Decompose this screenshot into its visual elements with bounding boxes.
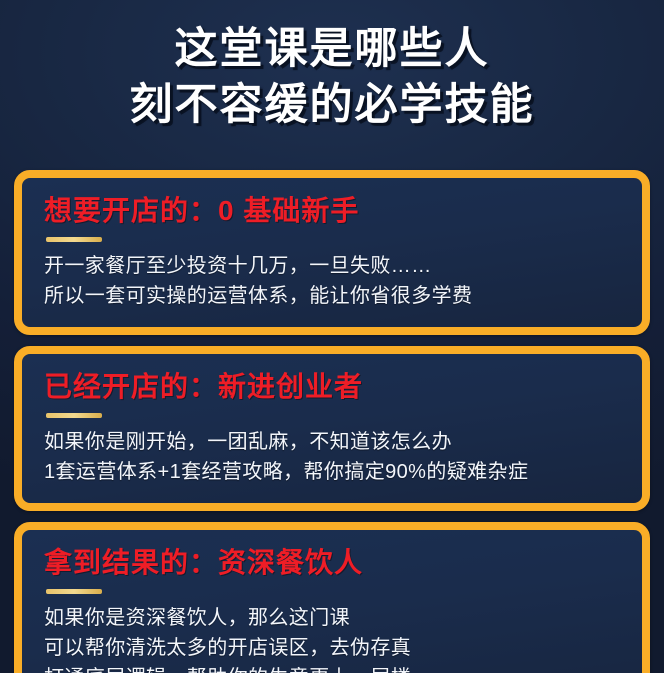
card-heading: 拿到结果的：资深餐饮人 — [44, 544, 620, 582]
card-body-line: 开一家餐厅至少投资十几万，一旦失败…… — [44, 251, 620, 281]
audience-card-veteran: 拿到结果的：资深餐饮人 如果你是资深餐饮人，那么这门课 可以帮你清洗太多的开店误… — [14, 522, 650, 673]
card-heading: 想要开店的：0 基础新手 — [44, 192, 620, 230]
card-body-line: 1套运营体系+1套经营攻略，帮你搞定90%的疑难杂症 — [44, 457, 620, 487]
card-body-line: 可以帮你清洗太多的开店误区，去伪存真 — [44, 633, 620, 663]
audience-card-new-owner: 已经开店的：新进创业者 如果你是刚开始，一团乱麻，不知道该怎么办 1套运营体系+… — [14, 346, 650, 511]
card-body: 开一家餐厅至少投资十几万，一旦失败…… 所以一套可实操的运营体系，能让你省很多学… — [44, 251, 620, 311]
card-divider — [46, 237, 102, 242]
card-body-line: 所以一套可实操的运营体系，能让你省很多学费 — [44, 281, 620, 311]
card-divider — [46, 589, 102, 594]
card-divider — [46, 413, 102, 418]
card-body-line: 如果你是资深餐饮人，那么这门课 — [44, 603, 620, 633]
card-body: 如果你是资深餐饮人，那么这门课 可以帮你清洗太多的开店误区，去伪存真 打通底层逻… — [44, 603, 620, 673]
title-line-2: 刻不容缓的必学技能 — [0, 78, 664, 132]
card-heading: 已经开店的：新进创业者 — [44, 368, 620, 406]
title-line-1: 这堂课是哪些人 — [0, 22, 664, 76]
card-body: 如果你是刚开始，一团乱麻，不知道该怎么办 1套运营体系+1套经营攻略，帮你搞定9… — [44, 427, 620, 487]
audience-card-beginner: 想要开店的：0 基础新手 开一家餐厅至少投资十几万，一旦失败…… 所以一套可实操… — [14, 170, 650, 335]
promo-poster: 这堂课是哪些人 刻不容缓的必学技能 想要开店的：0 基础新手 开一家餐厅至少投资… — [0, 0, 664, 673]
card-body-line: 打通底层逻辑，帮助你的生意更上一层楼 — [44, 663, 620, 673]
poster-title: 这堂课是哪些人 刻不容缓的必学技能 — [0, 0, 664, 132]
audience-card-list: 想要开店的：0 基础新手 开一家餐厅至少投资十几万，一旦失败…… 所以一套可实操… — [0, 170, 664, 673]
card-body-line: 如果你是刚开始，一团乱麻，不知道该怎么办 — [44, 427, 620, 457]
